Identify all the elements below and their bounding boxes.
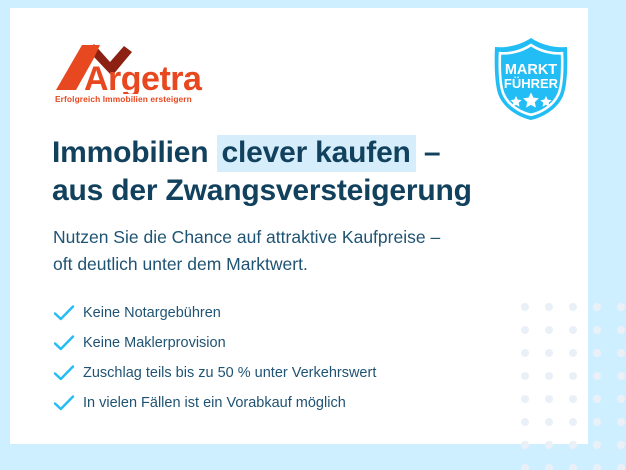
argetra-logo-mark: Argetra bbox=[54, 42, 244, 94]
dot bbox=[569, 326, 577, 334]
dot bbox=[545, 395, 553, 403]
headline-highlight: clever kaufen bbox=[217, 135, 416, 172]
dot bbox=[593, 372, 601, 380]
dot bbox=[545, 418, 553, 426]
dot bbox=[617, 395, 625, 403]
dot bbox=[569, 418, 577, 426]
logo-tagline: Erfolgreich Immobilien ersteigern bbox=[55, 94, 192, 104]
dot bbox=[569, 303, 577, 311]
argetra-logo: Argetra Erfolgreich Immobilien ersteiger… bbox=[54, 42, 244, 110]
markt-fuehrer-badge: MARKT FÜHRER bbox=[489, 36, 573, 122]
dot bbox=[617, 326, 625, 334]
dot bbox=[617, 464, 625, 470]
list-item: Keine Notargebühren bbox=[53, 298, 513, 328]
list-item: Zuschlag teils bis zu 50 % unter Verkehr… bbox=[53, 358, 513, 388]
dot bbox=[593, 326, 601, 334]
dot bbox=[617, 303, 625, 311]
dot bbox=[521, 326, 529, 334]
dot bbox=[569, 464, 577, 470]
dot bbox=[569, 441, 577, 449]
dot bbox=[545, 326, 553, 334]
svg-text:Argetra: Argetra bbox=[84, 60, 203, 94]
dot bbox=[545, 464, 553, 470]
check-icon bbox=[53, 334, 83, 352]
headline-line-1: Immobilien clever kaufen – bbox=[52, 134, 522, 172]
promo-banner: Argetra Erfolgreich Immobilien ersteiger… bbox=[0, 0, 626, 470]
dot bbox=[593, 441, 601, 449]
dot bbox=[521, 464, 529, 470]
dot bbox=[521, 441, 529, 449]
dot bbox=[617, 372, 625, 380]
dot bbox=[521, 303, 529, 311]
dot bbox=[593, 464, 601, 470]
list-item-label: Zuschlag teils bis zu 50 % unter Verkehr… bbox=[83, 365, 376, 381]
headline-part-2: – bbox=[416, 136, 441, 169]
list-item-label: Keine Maklerprovision bbox=[83, 335, 226, 351]
dot bbox=[593, 418, 601, 426]
dot bbox=[617, 349, 625, 357]
dot bbox=[593, 395, 601, 403]
dot bbox=[617, 418, 625, 426]
dot bbox=[569, 349, 577, 357]
list-item: Keine Maklerprovision bbox=[53, 328, 513, 358]
benefits-checklist: Keine Notargebühren Keine Maklerprovisio… bbox=[53, 298, 513, 418]
check-icon bbox=[53, 304, 83, 322]
list-item-label: In vielen Fällen ist ein Vorabkauf mögli… bbox=[83, 395, 346, 411]
dot bbox=[617, 441, 625, 449]
headline-line-2: aus der Zwangsversteigerung bbox=[52, 172, 522, 210]
list-item: In vielen Fällen ist ein Vorabkauf mögli… bbox=[53, 388, 513, 418]
list-item-label: Keine Notargebühren bbox=[83, 305, 221, 321]
subtitle-line-1: Nutzen Sie die Chance auf attraktive Kau… bbox=[53, 224, 533, 251]
dot bbox=[545, 349, 553, 357]
dot bbox=[521, 395, 529, 403]
badge-line2: FÜHRER bbox=[504, 76, 559, 91]
page-title: Immobilien clever kaufen – aus der Zwang… bbox=[52, 134, 522, 210]
dot bbox=[521, 418, 529, 426]
dot bbox=[569, 372, 577, 380]
dot-grid-decoration bbox=[521, 303, 626, 470]
dot bbox=[569, 395, 577, 403]
dot bbox=[545, 372, 553, 380]
check-icon bbox=[53, 394, 83, 412]
dot bbox=[593, 349, 601, 357]
subtitle: Nutzen Sie die Chance auf attraktive Kau… bbox=[53, 224, 533, 278]
dot bbox=[545, 303, 553, 311]
dot bbox=[593, 303, 601, 311]
shield-icon: MARKT FÜHRER bbox=[489, 36, 573, 122]
check-icon bbox=[53, 364, 83, 382]
dot bbox=[521, 372, 529, 380]
subtitle-line-2: oft deutlich unter dem Marktwert. bbox=[53, 251, 533, 278]
dot bbox=[545, 441, 553, 449]
dot bbox=[521, 349, 529, 357]
headline-part-1: Immobilien bbox=[52, 136, 217, 169]
